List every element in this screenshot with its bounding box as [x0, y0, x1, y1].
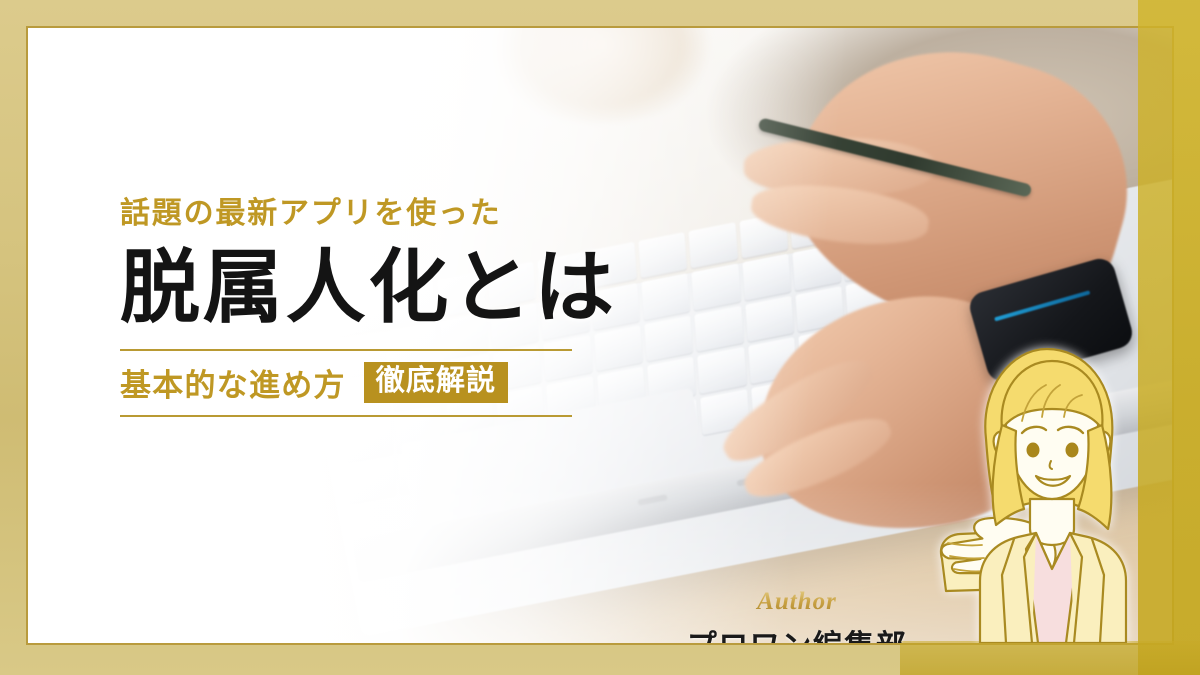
divider-rule-bottom — [120, 415, 572, 417]
headline-group: 話題の最新アプリを使った 脱属人化とは 基本的な進め方 徹底解説 — [120, 196, 680, 417]
author-block: Author プロワン編集部 — [672, 588, 922, 645]
subtitle-row: 基本的な進め方 徹底解説 — [120, 351, 572, 415]
subtitle-badge: 徹底解説 — [364, 362, 509, 403]
character-illustration — [928, 313, 1174, 643]
subtitle-text: 基本的な進め方 — [120, 360, 346, 405]
inner-card: 話題の最新アプリを使った 脱属人化とは 基本的な進め方 徹底解説 Author … — [26, 26, 1174, 645]
author-label: Author — [672, 588, 922, 616]
author-name: プロワン編集部 — [672, 621, 922, 646]
poster-canvas: 話題の最新アプリを使った 脱属人化とは 基本的な進め方 徹底解説 Author … — [0, 0, 1200, 675]
kicker-text: 話題の最新アプリを使った — [120, 196, 680, 232]
page-title: 脱属人化とは — [120, 246, 680, 331]
eye-right — [1066, 443, 1079, 458]
gold-frame-bottom-accent — [900, 641, 1200, 675]
eye-left — [1027, 443, 1040, 458]
